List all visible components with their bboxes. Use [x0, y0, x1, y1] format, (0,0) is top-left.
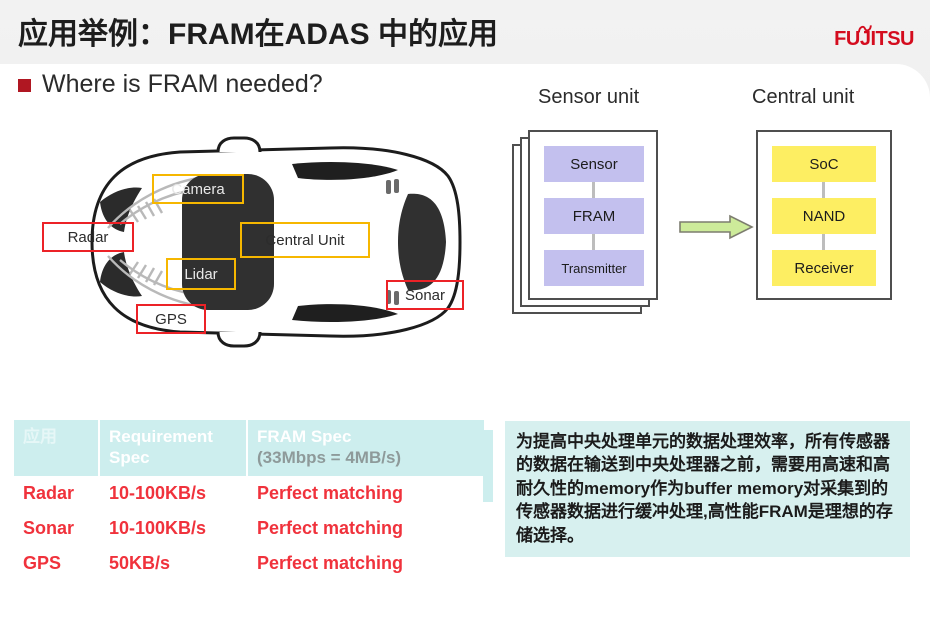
- chip-transmitter-label: Transmitter: [561, 261, 626, 276]
- cell-app: GPS: [14, 553, 100, 574]
- flow-arrow-icon: [678, 214, 754, 240]
- table-row: Radar 10-100KB/s Perfect matching: [14, 476, 484, 511]
- section-heading-label: Where is FRAM needed?: [42, 70, 323, 99]
- slide-canvas: 应用举例：FRAM在ADAS 中的应用 FUJITSU Where is FRA…: [0, 0, 930, 640]
- chip-receiver: Receiver: [772, 250, 876, 286]
- central-unit-title: Central unit: [752, 86, 854, 109]
- chip-soc: SoC: [772, 146, 876, 182]
- chip-sensor: Sensor: [544, 146, 644, 182]
- car-label-camera: Camera: [152, 174, 244, 204]
- spec-table: 应用 Requirement Spec FRAM Spec (33Mbps = …: [14, 420, 484, 581]
- content-panel: Where is FRAM needed?: [0, 64, 930, 640]
- connector-sensor-fram: [592, 182, 595, 198]
- connector-soc-nand: [822, 182, 825, 198]
- fujitsu-logo-text: FUJITSU: [822, 28, 914, 51]
- spec-table-header-fram-sub: (33Mbps = 4MB/s): [257, 448, 401, 467]
- cell-fram: Perfect matching: [248, 518, 484, 539]
- car-label-camera-text: Camera: [171, 181, 224, 198]
- car-label-gps: GPS: [136, 304, 206, 334]
- central-unit-card: SoC NAND Receiver: [756, 130, 892, 300]
- chip-fram: FRAM: [544, 198, 644, 234]
- note-accent-strip: [483, 430, 493, 502]
- spec-table-header-requirement: Requirement Spec: [100, 420, 248, 476]
- chip-sensor-label: Sensor: [570, 156, 618, 173]
- car-label-radar-text: Radar: [68, 229, 109, 246]
- car-diagram: Camera Radar Lidar Central Unit GPS Sona…: [30, 132, 480, 352]
- cell-requirement: 10-100KB/s: [100, 483, 248, 504]
- car-label-central-unit-text: Central Unit: [265, 232, 344, 249]
- car-label-lidar: Lidar: [166, 258, 236, 290]
- spec-table-header-row: 应用 Requirement Spec FRAM Spec (33Mbps = …: [14, 420, 484, 476]
- chip-soc-label: SoC: [809, 156, 838, 173]
- note-box: 为提高中央处理单元的数据处理效率，所有传感器的数据在输送到中央处理器之前，需要用…: [505, 421, 910, 557]
- car-label-sonar-text: Sonar: [405, 287, 445, 304]
- cell-requirement: 50KB/s: [100, 553, 248, 574]
- spec-table-header-fram: FRAM Spec (33Mbps = 4MB/s): [248, 420, 484, 476]
- spec-table-header-fram-main: FRAM Spec: [257, 427, 351, 446]
- chip-transmitter: Transmitter: [544, 250, 644, 286]
- cell-fram: Perfect matching: [248, 483, 484, 504]
- unit-block-diagram: Sensor unit Central unit Sensor FRAM Tra…: [500, 86, 920, 366]
- cell-requirement: 10-100KB/s: [100, 518, 248, 539]
- table-row: GPS 50KB/s Perfect matching: [14, 546, 484, 581]
- page-title: 应用举例：FRAM在ADAS 中的应用: [18, 9, 698, 53]
- chip-fram-label: FRAM: [573, 208, 616, 225]
- fujitsu-logo: FUJITSU: [822, 24, 914, 54]
- cell-fram: Perfect matching: [248, 553, 484, 574]
- table-row: Sonar 10-100KB/s Perfect matching: [14, 511, 484, 546]
- chip-nand: NAND: [772, 198, 876, 234]
- spec-table-header-app: 应用: [14, 420, 100, 476]
- slide-header: 应用举例：FRAM在ADAS 中的应用 FUJITSU: [0, 0, 930, 70]
- connector-fram-transmitter: [592, 234, 595, 250]
- cell-app: Radar: [14, 483, 100, 504]
- car-label-central-unit: Central Unit: [240, 222, 370, 258]
- sensor-unit-title: Sensor unit: [538, 86, 639, 109]
- bullet-square-icon: [18, 79, 31, 92]
- sensor-unit-card: Sensor FRAM Transmitter: [528, 130, 658, 300]
- chip-receiver-label: Receiver: [794, 260, 853, 277]
- cell-app: Sonar: [14, 518, 100, 539]
- car-label-lidar-text: Lidar: [184, 266, 217, 283]
- connector-nand-receiver: [822, 234, 825, 250]
- car-label-radar: Radar: [42, 222, 134, 252]
- chip-nand-label: NAND: [803, 208, 846, 225]
- car-label-gps-text: GPS: [155, 311, 187, 328]
- car-label-sonar: Sonar: [386, 280, 464, 310]
